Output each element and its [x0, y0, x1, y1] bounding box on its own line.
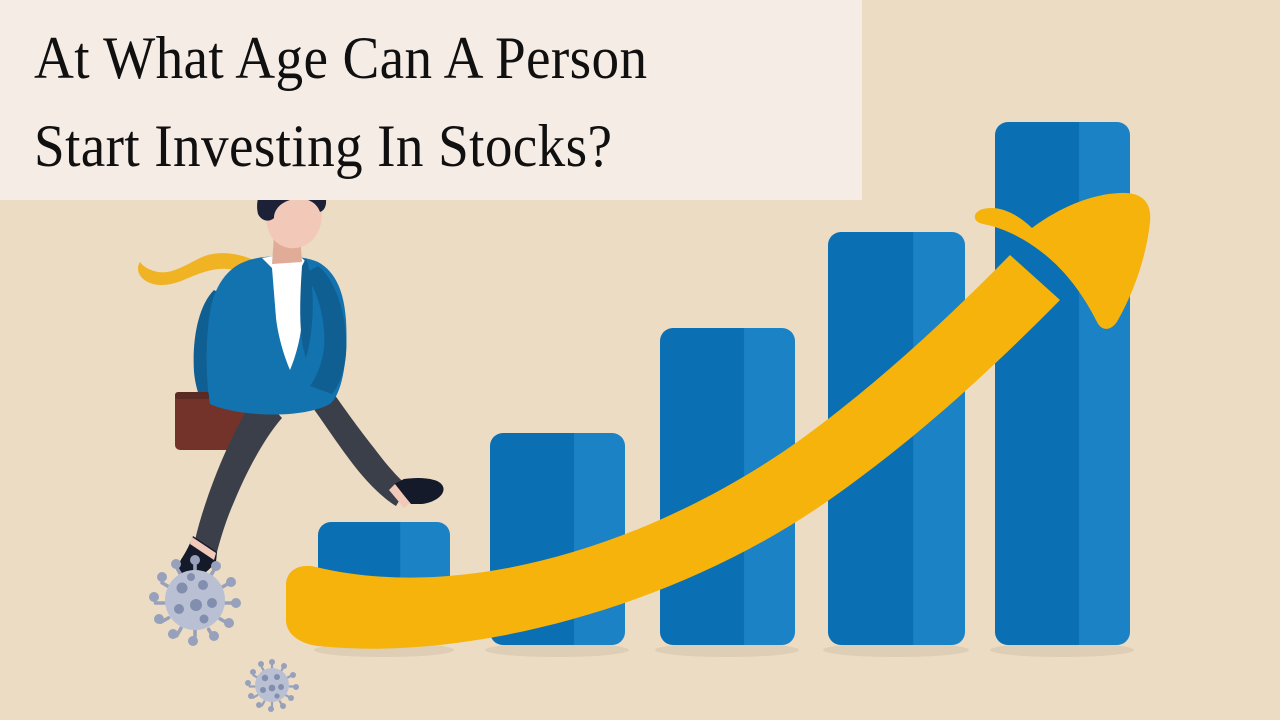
illustration-canvas: At What Age Can A Person Start Investing…: [0, 0, 1280, 720]
arrow-body: [286, 255, 1060, 649]
page-title: At What Age Can A Person Start Investing…: [34, 14, 770, 190]
title-banner: At What Age Can A Person Start Investing…: [0, 0, 862, 200]
